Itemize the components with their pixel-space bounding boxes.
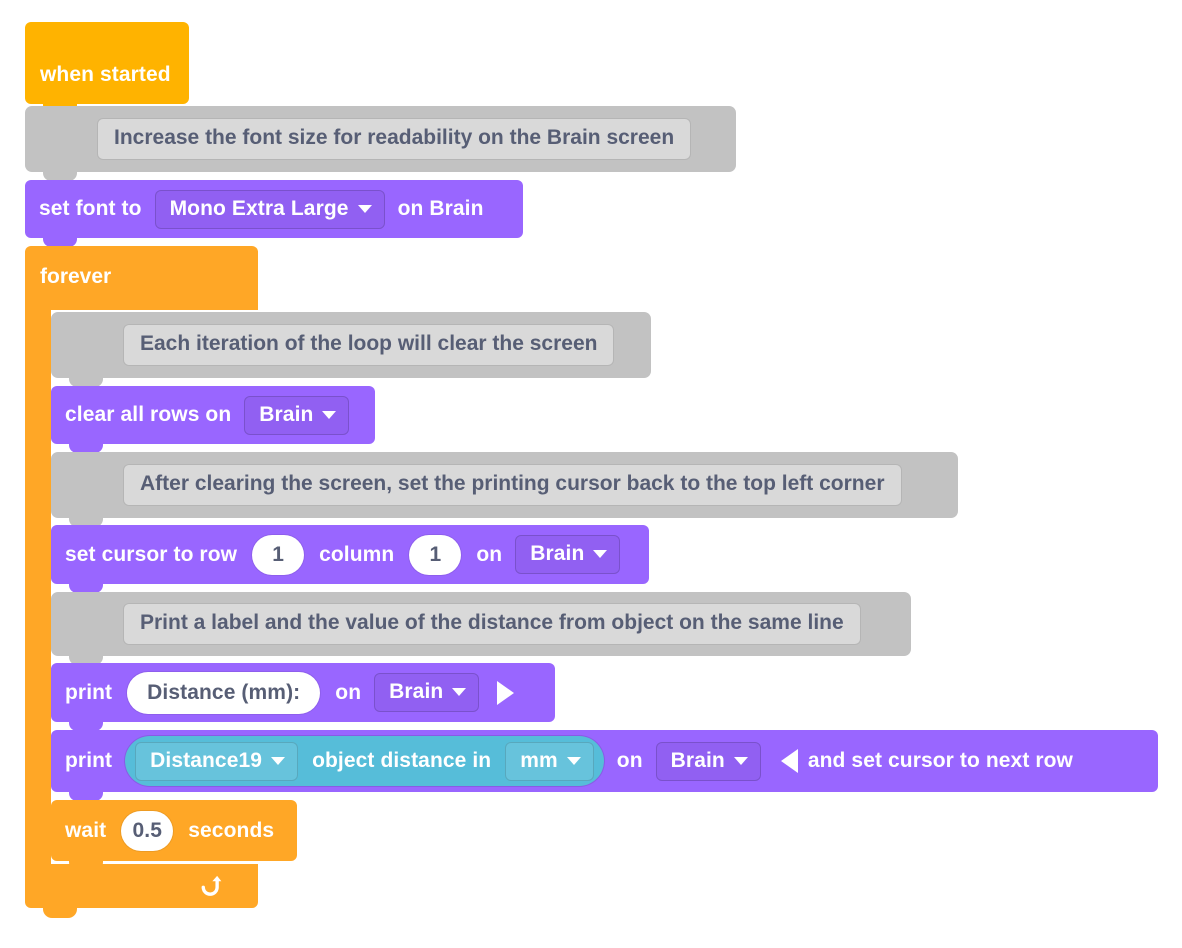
print2-on-label: on <box>608 749 652 773</box>
print-on-label: on <box>326 681 370 705</box>
forever-block-header[interactable]: forever <box>25 246 258 310</box>
loop-arrow-icon <box>196 873 222 899</box>
wait-label: wait <box>51 819 115 843</box>
forever-block-footer[interactable] <box>25 864 258 908</box>
forever-label: forever <box>40 265 111 289</box>
cursor-column-input[interactable]: 1 <box>409 535 461 575</box>
font-dropdown-value: Mono Extra Large <box>170 197 349 221</box>
comment3-top-notch <box>69 452 103 461</box>
comment-block-2[interactable]: Each iteration of the loop will clear th… <box>51 312 651 378</box>
print2-device-dropdown[interactable]: Brain <box>656 742 761 781</box>
print-device-value: Brain <box>389 680 443 704</box>
cursor-column-label: column <box>310 543 403 567</box>
wait-seconds-input[interactable]: 0.5 <box>121 811 173 851</box>
chevron-down-icon <box>567 757 581 765</box>
distance-units-value: mm <box>520 749 558 773</box>
distance-reporter-block[interactable]: Distance19 object distance in mm <box>125 736 604 786</box>
print-label-block[interactable]: print Distance (mm): on Brain <box>51 663 555 722</box>
comment-block-3[interactable]: After clearing the screen, set the print… <box>51 452 958 518</box>
cursor-device-value: Brain <box>530 542 584 566</box>
distance-units-dropdown[interactable]: mm <box>505 742 594 781</box>
wait-bottom-notch <box>69 861 103 870</box>
block-workspace[interactable]: when started Increase the font size for … <box>0 0 1182 948</box>
comment-text-1: Increase the font size for readability o… <box>97 118 691 159</box>
set-font-on-brain-label: on Brain <box>389 197 493 221</box>
comment-block-4[interactable]: Print a label and the value of the dista… <box>51 592 911 656</box>
chevron-down-icon <box>322 411 336 419</box>
chevron-down-icon <box>271 757 285 765</box>
comment2-top-notch <box>69 312 103 321</box>
comment1-top-notch <box>43 106 77 115</box>
forever-bottom-notch <box>43 908 77 918</box>
when-started-label: when started <box>25 63 171 87</box>
clear-all-rows-block[interactable]: clear all rows on Brain <box>51 386 375 444</box>
print-label: print <box>51 681 121 705</box>
clear-rows-device-dropdown[interactable]: Brain <box>244 396 349 435</box>
distance-sensor-dropdown[interactable]: Distance19 <box>135 742 298 781</box>
clear-rows-device-value: Brain <box>259 403 313 427</box>
comment-text-2: Each iteration of the loop will clear th… <box>123 324 614 365</box>
cursor-device-dropdown[interactable]: Brain <box>515 535 620 574</box>
set-cursor-next-row-label: and set cursor to next row <box>808 749 1082 773</box>
set-cursor-label: set cursor to row <box>51 543 246 567</box>
font-dropdown[interactable]: Mono Extra Large <box>155 190 385 229</box>
clear-all-rows-label: clear all rows on <box>51 403 240 427</box>
print2-label: print <box>51 749 121 773</box>
cursor-row-input[interactable]: 1 <box>252 535 304 575</box>
forever-left-arm <box>25 310 51 864</box>
wait-seconds-label: seconds <box>179 819 283 843</box>
object-distance-in-label: object distance in <box>302 749 501 773</box>
cursor-on-label: on <box>467 543 511 567</box>
distance-sensor-value: Distance19 <box>150 749 262 773</box>
chevron-down-icon <box>593 550 607 558</box>
comment-text-4: Print a label and the value of the dista… <box>123 603 861 644</box>
comment-text-3: After clearing the screen, set the print… <box>123 464 902 505</box>
comment4-top-notch <box>69 592 103 601</box>
set-font-block[interactable]: set font to Mono Extra Large on Brain <box>25 180 523 238</box>
chevron-down-icon <box>452 688 466 696</box>
triangle-left-icon[interactable] <box>781 749 798 773</box>
when-started-block[interactable]: when started <box>25 22 189 104</box>
print-device-dropdown[interactable]: Brain <box>374 673 479 712</box>
print-text-input[interactable]: Distance (mm): <box>127 672 320 714</box>
wait-block[interactable]: wait 0.5 seconds <box>51 800 297 861</box>
chevron-down-icon <box>734 757 748 765</box>
set-cursor-block[interactable]: set cursor to row 1 column 1 on Brain <box>51 525 649 584</box>
comment-block-1[interactable]: Increase the font size for readability o… <box>25 106 736 172</box>
print-distance-block[interactable]: print Distance19 object distance in mm o… <box>51 730 1158 792</box>
set-font-label: set font to <box>25 197 151 221</box>
forever-top-notch <box>43 246 77 255</box>
print2-device-value: Brain <box>671 749 725 773</box>
triangle-right-icon[interactable] <box>497 681 514 705</box>
chevron-down-icon <box>358 205 372 213</box>
